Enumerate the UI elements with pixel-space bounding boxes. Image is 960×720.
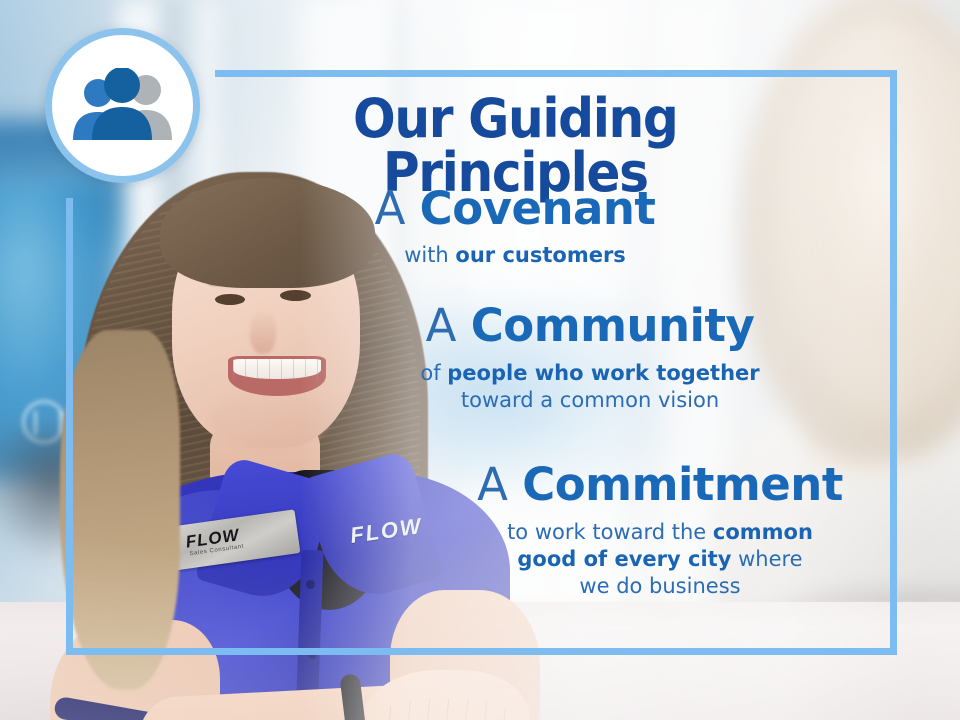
principle-block-commitment: A Commitment to work toward the commongo…: [440, 462, 880, 599]
principle-description: with our customers: [330, 242, 700, 269]
principle-word: Community: [471, 299, 755, 352]
frame-border-top: [215, 70, 897, 77]
principle-block-covenant: A Covenant with our customers: [330, 186, 700, 269]
principle-description: of people who work togethertoward a comm…: [380, 360, 800, 414]
frame-border-right: [890, 70, 897, 655]
principle-block-community: A Community of people who work togethert…: [380, 303, 800, 414]
frame-border-bottom: [66, 648, 897, 655]
principle-heading: A Covenant: [330, 186, 700, 233]
employee-hair-front-left: [60, 330, 180, 690]
polo-button: [306, 580, 315, 589]
employee-teeth: [233, 359, 321, 379]
employee-smile: [228, 356, 326, 396]
people-group-badge: [45, 28, 200, 183]
principle-article: A: [426, 299, 457, 352]
employee-eye-right: [280, 290, 311, 301]
principle-article: A: [477, 458, 508, 511]
principle-word: Commitment: [522, 458, 843, 511]
principle-heading: A Commitment: [440, 462, 880, 509]
employee-nose: [250, 310, 276, 354]
principle-heading: A Community: [380, 303, 800, 350]
principle-description: to work toward the commongood of every c…: [440, 519, 880, 600]
poster-canvas: FLOW Sales Consultant FLOW: [0, 0, 960, 720]
employee-chin-shadow: [210, 388, 330, 450]
principle-article: A: [375, 182, 406, 235]
people-group-icon: [70, 68, 176, 144]
frame-border-left: [66, 198, 73, 655]
principle-word: Covenant: [420, 182, 656, 235]
employee-eye-left: [215, 294, 245, 305]
